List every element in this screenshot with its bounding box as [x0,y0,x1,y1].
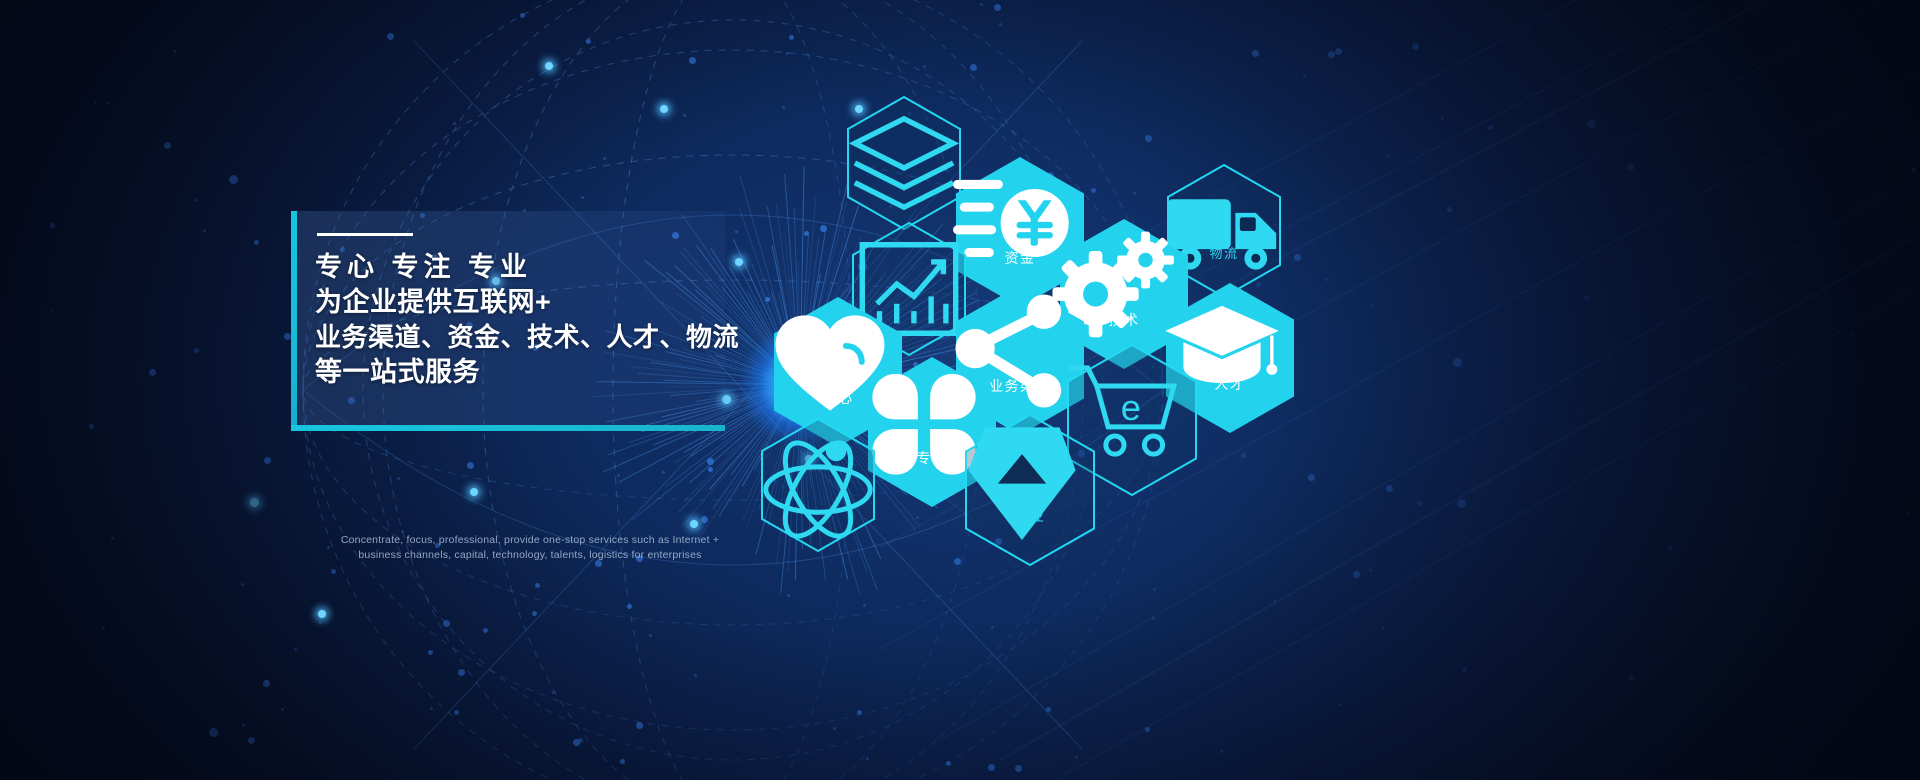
accent-bar-left [291,211,297,425]
headline-panel: 专心 专注 专业 为企业提供互联网+ 业务渠道、资金、技术、人才、物流 等一站式… [291,211,725,425]
graduation-cap-icon [1204,326,1256,372]
headline-line-3: 业务渠道、资金、技术、人才、物流 [315,320,725,355]
atom-icon [795,465,841,505]
svg-text:e: e [1121,387,1141,428]
hex-tile-pro[interactable]: 专业 [963,413,1097,567]
share-nodes-icon [994,328,1046,374]
headline-line-2: 为企业提供互联网+ [315,285,725,320]
decorative-rule [317,233,413,236]
shopping-cart-e-icon: e [1106,397,1158,443]
money-yen-icon [994,200,1046,246]
headline-group: 专心 专注 专业 为企业提供互联网+ 业务渠道、资金、技术、人才、物流 等一站式… [315,250,725,390]
clover-icon [906,400,958,446]
subcopy-text: Concentrate, focus, professional, provid… [330,533,730,563]
hex-tile-layers[interactable] [845,95,963,231]
diamond-icon [1004,458,1056,504]
banner-stage: 专心 专注 专业 为企业提供互联网+ 业务渠道、资金、技术、人才、物流 等一站式… [0,0,1920,780]
headline-line-4: 等一站式服务 [315,355,725,390]
truck-icon [1201,202,1247,242]
headline-line-1: 专心 专注 专业 [315,250,725,285]
gears-icon [1098,262,1150,308]
layers-icon [881,143,927,183]
hexagon-cluster: 资金 物流 [735,95,1335,545]
accent-bar-bottom [291,425,725,431]
hex-tile-atom[interactable] [759,417,877,553]
heart-icon [812,340,864,386]
